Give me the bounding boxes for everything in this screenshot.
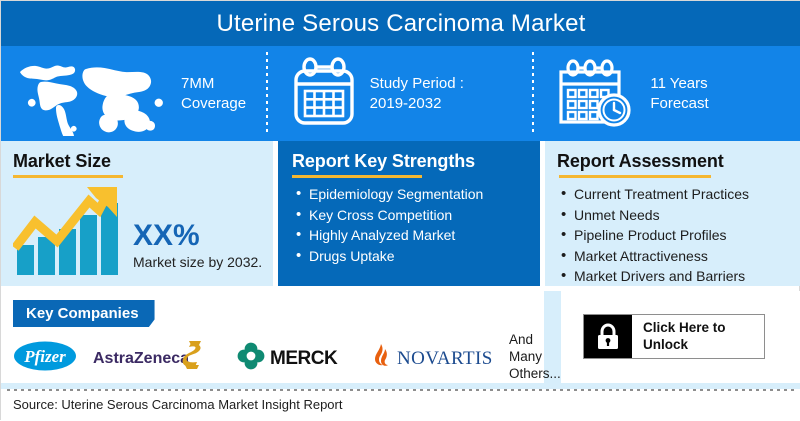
forecast-line2: Forecast (650, 94, 708, 114)
logo-row: Pfizer AstraZeneca (9, 335, 539, 377)
report-assessment-rule (559, 175, 711, 178)
bottom-row: Key Companies Pfizer AstraZeneca (1, 291, 800, 389)
list-item: Market Attractiveness (574, 247, 791, 267)
key-companies-badge: Key Companies (13, 300, 155, 327)
market-size-text: XX% Market size by 2032. (133, 220, 262, 277)
report-assessment-heading: Report Assessment (557, 151, 791, 172)
market-size-heading: Market Size (13, 151, 261, 172)
list-item: Drugs Uptake (309, 247, 526, 267)
unlock-label: Click Here to Unlock (632, 315, 764, 358)
market-size-rule (13, 175, 123, 178)
unlock-line1: Click Here to (643, 320, 726, 335)
title-bar: Uterine Serous Carcinoma Market (1, 1, 800, 46)
key-strengths-panel: Report Key Strengths Epidemiology Segmen… (278, 141, 540, 286)
feature-band: 7MM Coverage (1, 46, 800, 141)
key-strengths-rule (292, 175, 422, 178)
market-size-panel: Market Size XX% Market size by (1, 141, 273, 286)
infographic-root: Uterine Serous Carcinoma Market (0, 0, 800, 420)
key-companies-card: Key Companies Pfizer AstraZeneca (1, 291, 544, 383)
coverage-text: 7MM Coverage (181, 74, 246, 114)
list-item: Pipeline Product Profiles (574, 226, 791, 246)
source-text: Source: Uterine Serous Carcinoma Market … (13, 397, 342, 412)
report-assessment-list: Current Treatment Practices Unmet Needs … (557, 185, 791, 287)
feature-forecast: 11 Years Forecast (534, 46, 800, 141)
svg-text:AstraZeneca: AstraZeneca (93, 350, 189, 367)
world-map-icon (11, 51, 171, 136)
market-size-body: XX% Market size by 2032. (13, 185, 261, 277)
growth-bar-chart-icon (13, 185, 125, 277)
unlock-line2: Unlock (643, 337, 688, 352)
study-period-line1: Study Period : (370, 75, 464, 92)
lock-icon (584, 315, 632, 358)
footer: Source: Uterine Serous Carcinoma Market … (1, 389, 800, 421)
coverage-line2: Coverage (181, 94, 246, 114)
calendar-clock-icon (554, 57, 640, 131)
page-title: Uterine Serous Carcinoma Market (216, 10, 585, 38)
market-size-caption: Market size by 2032. (133, 253, 262, 271)
and-many-others-text: And Many Others... (509, 331, 561, 382)
key-strengths-list: Epidemiology Segmentation Key Cross Comp… (292, 185, 526, 266)
click-here-to-unlock-button[interactable]: Click Here to Unlock (583, 314, 765, 359)
astrazeneca-logo: AstraZeneca (91, 339, 211, 373)
forecast-text: 11 Years Forecast (650, 74, 708, 114)
forecast-line1: 11 Years (650, 75, 707, 92)
feature-study-period: Study Period : 2019-2032 (268, 46, 535, 141)
market-size-value: XX% (133, 220, 262, 252)
svg-text:NOVARTIS: NOVARTIS (397, 348, 493, 369)
list-item: Epidemiology Segmentation (309, 185, 526, 205)
calendar-icon (288, 57, 360, 131)
merck-logo: MERCK (237, 341, 349, 371)
key-strengths-heading: Report Key Strengths (292, 151, 526, 172)
list-item: Current Treatment Practices (574, 185, 791, 205)
many-others-line1: And Many (509, 331, 561, 365)
svg-text:MERCK: MERCK (270, 348, 338, 369)
footer-divider (7, 389, 795, 391)
novartis-logo: NOVARTIS (371, 341, 497, 371)
list-item: Unmet Needs (574, 206, 791, 226)
list-item: Highly Analyzed Market (309, 226, 526, 246)
pfizer-logo: Pfizer (13, 340, 77, 372)
unlock-card: Click Here to Unlock (561, 291, 800, 383)
study-period-text: Study Period : 2019-2032 (370, 74, 464, 114)
list-item: Key Cross Competition (309, 206, 526, 226)
feature-coverage: 7MM Coverage (1, 46, 268, 141)
study-period-line2: 2019-2032 (370, 94, 464, 114)
svg-text:Pfizer: Pfizer (23, 347, 66, 366)
mid-row: Market Size XX% Market size by (1, 141, 800, 286)
coverage-line1: 7MM (181, 75, 214, 92)
report-assessment-panel: Report Assessment Current Treatment Prac… (545, 141, 800, 286)
list-item: Market Drivers and Barriers (574, 267, 791, 287)
many-others-line2: Others... (509, 365, 561, 382)
